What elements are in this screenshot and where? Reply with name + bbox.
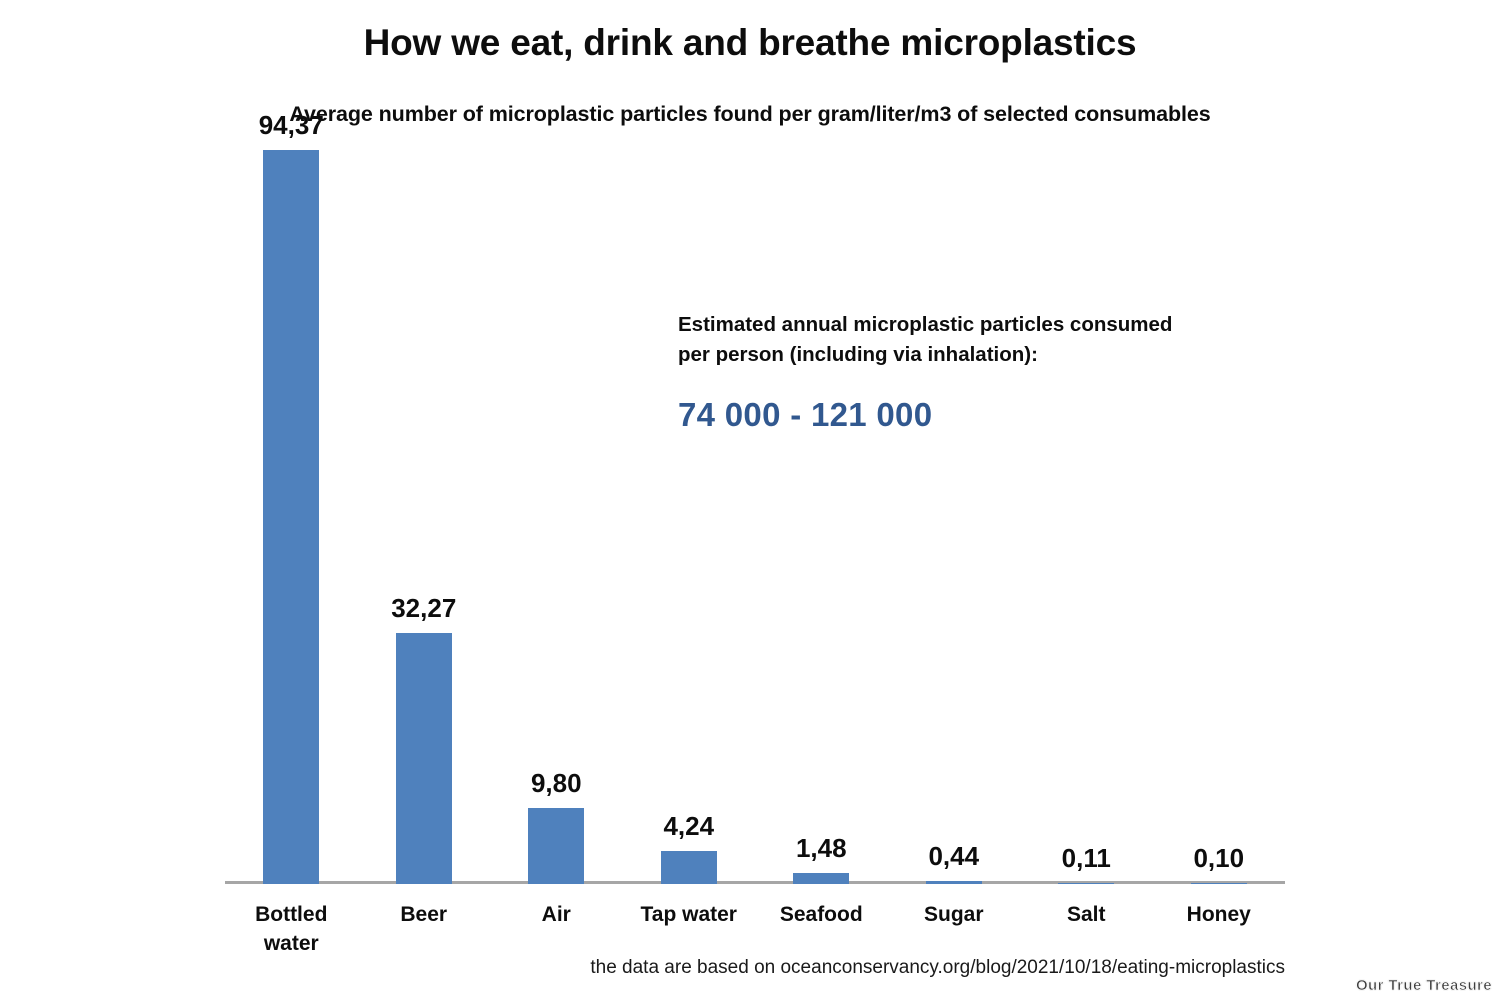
chart-subtitle: Average number of microplastic particles…	[0, 102, 1500, 127]
bar-value-label: 0,10	[1193, 845, 1244, 871]
bar-value-label: 9,80	[531, 770, 582, 796]
bar[interactable]	[263, 150, 319, 884]
bar-value-label: 4,24	[663, 813, 714, 839]
source-note: the data are based on oceanconservancy.o…	[0, 957, 1285, 979]
category-tick: Air	[490, 900, 623, 929]
bar-value-label: 32,27	[391, 595, 456, 621]
watermark: Our True Treasure	[1356, 977, 1492, 994]
category-label: Honey	[1153, 900, 1286, 929]
bar-slot: 1,48	[755, 150, 888, 884]
bar-slot: 32,27	[358, 150, 491, 884]
category-tick: Salt	[1020, 900, 1153, 929]
category-label: Salt	[1020, 900, 1153, 929]
bar-slot: 9,80	[490, 150, 623, 884]
bar-value-label: 0,44	[928, 843, 979, 869]
plot-area: 94,3732,279,804,241,480,440,110,10	[225, 150, 1285, 884]
bar[interactable]	[396, 633, 452, 884]
category-label: Bottledwater	[225, 900, 358, 958]
bar-slot: 0,10	[1153, 150, 1286, 884]
bar-value-label: 94,37	[259, 112, 324, 138]
bar[interactable]	[528, 808, 584, 884]
bar-value-label: 1,48	[796, 835, 847, 861]
bar[interactable]	[1191, 883, 1247, 884]
chart-title: How we eat, drink and breathe microplast…	[0, 22, 1500, 64]
category-label: Seafood	[755, 900, 888, 929]
category-label: Air	[490, 900, 623, 929]
category-tick: Honey	[1153, 900, 1286, 929]
category-label: Sugar	[888, 900, 1021, 929]
bar[interactable]	[1058, 883, 1114, 884]
bar-slot: 0,44	[888, 150, 1021, 884]
bar-slot: 0,11	[1020, 150, 1153, 884]
bar-slot: 94,37	[225, 150, 358, 884]
chart-container: How we eat, drink and breathe microplast…	[0, 0, 1500, 1000]
bar-slot: 4,24	[623, 150, 756, 884]
category-label: Tap water	[623, 900, 756, 929]
category-tick: Tap water	[623, 900, 756, 929]
category-tick: Beer	[358, 900, 491, 929]
bar[interactable]	[926, 881, 982, 884]
category-label: Beer	[358, 900, 491, 929]
bar[interactable]	[793, 873, 849, 885]
category-tick: Bottledwater	[225, 900, 358, 958]
category-tick: Seafood	[755, 900, 888, 929]
bar-value-label: 0,11	[1062, 845, 1111, 871]
bar[interactable]	[661, 851, 717, 884]
category-tick: Sugar	[888, 900, 1021, 929]
